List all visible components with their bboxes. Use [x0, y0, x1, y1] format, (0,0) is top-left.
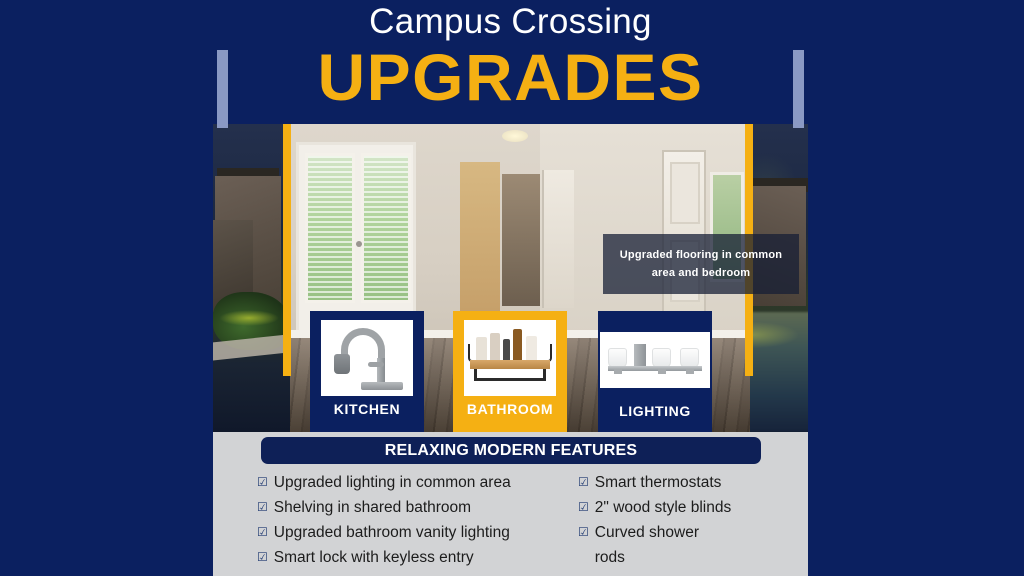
content-column: Campus Crossing UPGRADES: [213, 0, 808, 576]
card-body: BATHROOM: [453, 311, 567, 432]
checkbox-icon: ☑: [578, 470, 589, 495]
card-body: KITCHEN: [310, 311, 424, 432]
checkbox-icon: ☑: [257, 545, 268, 570]
french-door-glass-left: [305, 153, 355, 303]
feature-label: 2" wood style blinds: [595, 495, 731, 520]
checkbox-icon: ☑: [578, 520, 589, 545]
vanity-light-icon: [600, 332, 710, 388]
property-name: Campus Crossing: [213, 2, 808, 42]
feature-item: ☑ Smart thermostats: [578, 470, 808, 495]
feature-item: ☑ Curved shower rods: [578, 520, 808, 570]
features-title: RELAXING MODERN FEATURES: [261, 437, 761, 464]
feature-label: Shelving in shared bathroom: [274, 495, 471, 520]
feature-label: Smart thermostats: [595, 470, 722, 495]
checkbox-icon: ☑: [578, 495, 589, 520]
feature-label: Upgraded lighting in common area: [274, 470, 511, 495]
feature-label: Upgraded bathroom vanity lighting: [274, 520, 510, 545]
checkbox-icon: ☑: [257, 470, 268, 495]
feature-item: ☑ Shelving in shared bathroom: [257, 495, 568, 520]
hero-caption: Upgraded flooring in common area and bed…: [603, 234, 799, 294]
page-title: UPGRADES: [213, 42, 808, 112]
hallway-opening: [460, 162, 500, 312]
category-card-kitchen[interactable]: KITCHEN: [310, 311, 424, 432]
french-door-glass-right: [361, 153, 411, 303]
features-column-right: ☑ Smart thermostats ☑ 2" wood style blin…: [568, 468, 808, 574]
door-knob-icon: [356, 241, 362, 247]
card-label: KITCHEN: [310, 396, 424, 422]
checkbox-icon: ☑: [257, 495, 268, 520]
slide-canvas: Campus Crossing UPGRADES: [0, 0, 1024, 576]
feature-label: Curved shower rods: [595, 520, 699, 570]
feature-label: Smart lock with keyless entry: [274, 545, 474, 570]
features-panel: RELAXING MODERN FEATURES ☑ Upgraded ligh…: [213, 432, 808, 576]
window-blinds: [364, 156, 408, 300]
accent-bar-left: [217, 50, 228, 128]
category-card-bathroom[interactable]: BATHROOM: [453, 311, 567, 432]
features-columns: ☑ Upgraded lighting in common area ☑ She…: [213, 468, 808, 574]
feature-item: ☑ Smart lock with keyless entry: [257, 545, 568, 570]
faucet-icon: [321, 320, 413, 396]
category-card-row: KITCHEN BATHROOM: [213, 311, 808, 432]
accent-bar-right: [793, 50, 804, 128]
hallway-recess: [502, 174, 540, 306]
feature-item: ☑ Upgraded bathroom vanity lighting: [257, 520, 568, 545]
window-blinds: [308, 156, 352, 300]
header-band: Campus Crossing UPGRADES: [213, 0, 808, 124]
card-label: BATHROOM: [453, 396, 567, 422]
feature-item: ☑ 2" wood style blinds: [578, 495, 808, 520]
shelf-icon: [464, 320, 556, 396]
feature-item: ☑ Upgraded lighting in common area: [257, 470, 568, 495]
card-body: LIGHTING: [598, 311, 712, 432]
interior-door: [542, 170, 574, 308]
category-card-lighting[interactable]: LIGHTING: [598, 311, 712, 432]
ceiling-light-icon: [502, 130, 528, 142]
features-column-left: ☑ Upgraded lighting in common area ☑ She…: [213, 468, 568, 574]
door-panel-top: [670, 162, 700, 224]
checkbox-icon: ☑: [257, 520, 268, 545]
card-label: LIGHTING: [598, 398, 712, 424]
